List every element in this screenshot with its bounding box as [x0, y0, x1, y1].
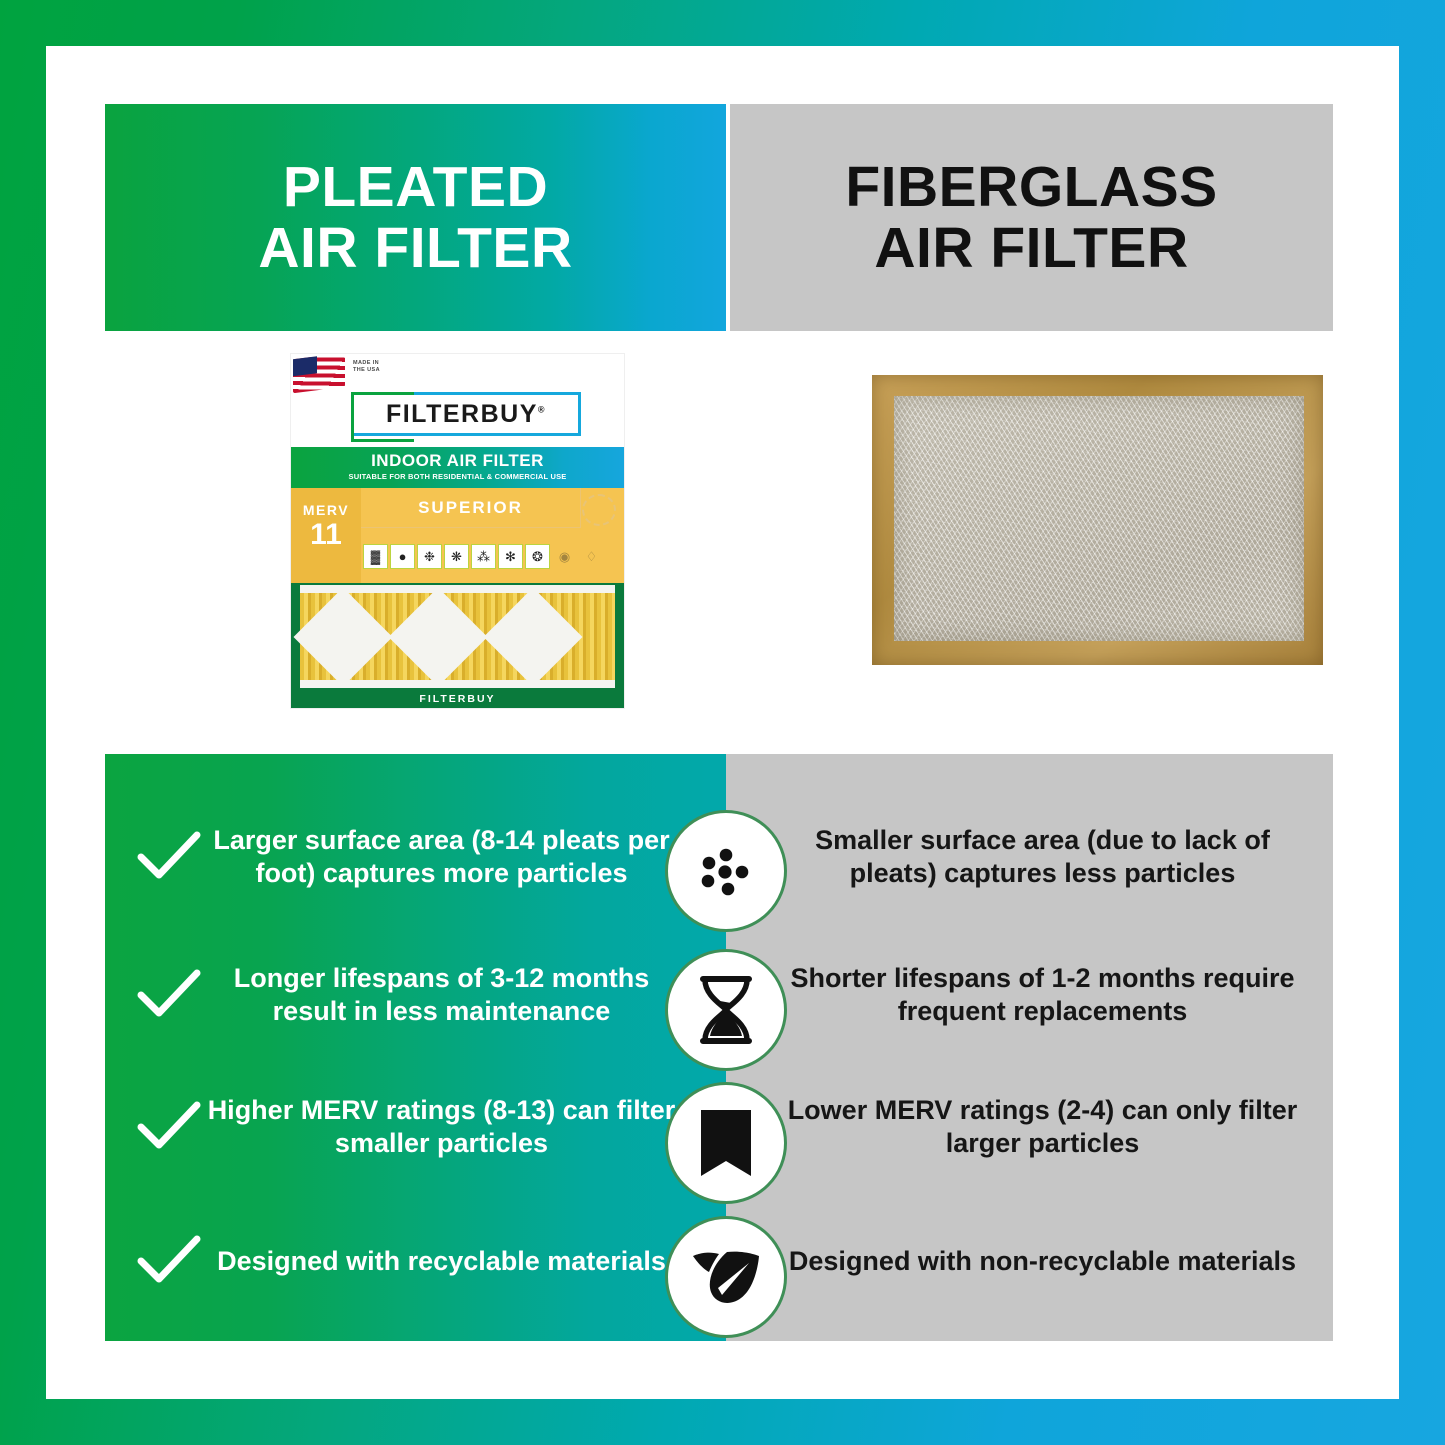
made-in-usa-text: MADE IN THE USA: [353, 360, 380, 375]
header-fiberglass-line1: FIBERGLASS: [845, 155, 1217, 219]
package-top-white-area: MADE IN THE USA FILTERBUY®: [291, 354, 624, 454]
virus-icon: ◉: [552, 544, 577, 569]
row-2-fiberglass-cell: Shorter lifespans of 1-2 months require …: [726, 936, 1333, 1054]
comparison-infographic: PLEATED AIR FILTER FIBERGLASS AIR FILTER: [105, 104, 1333, 1341]
certification-seal-icon: [582, 494, 616, 526]
brand-trademark: ®: [538, 404, 546, 414]
dust-icon: ▓: [363, 544, 388, 569]
header-fiberglass: FIBERGLASS AIR FILTER: [730, 104, 1333, 331]
pleated-media-view: FILTERBUY: [291, 583, 624, 708]
mold-spore-icon: ❉: [417, 544, 442, 569]
header-pleated-line2: AIR FILTER: [258, 216, 572, 280]
support-wire-frame: [300, 587, 615, 686]
merv-value: 11: [291, 520, 361, 550]
brand-name: FILTERBUY: [386, 400, 538, 428]
merv-rating-block: MERV 11: [291, 488, 361, 583]
row-3-fiberglass-cell: Lower MERV ratings (2-4) can only filter…: [726, 1068, 1333, 1186]
particles-icon: [665, 810, 787, 932]
package-gold-section: MERV 11 SUPERIOR ▓ ● ❉ ❋ ⁂ ✻ ❂: [291, 488, 624, 583]
check-icon: [133, 959, 205, 1031]
made-in-line1: MADE IN: [353, 360, 379, 366]
pollen-icon: ❋: [444, 544, 469, 569]
row-3-fiberglass-text: Lower MERV ratings (2-4) can only filter…: [774, 1094, 1311, 1160]
row-1-fiberglass-cell: Smaller surface area (due to lack of ple…: [726, 792, 1333, 922]
pet-dander-icon: ✻: [498, 544, 523, 569]
header-pleated-line1: PLEATED: [283, 155, 548, 219]
product-tier-label: SUPERIOR: [361, 488, 581, 528]
dust-mite-icon: ●: [390, 544, 415, 569]
row-4-fiberglass-cell: Designed with non-recyclable materials: [726, 1202, 1333, 1320]
package-band-subtitle: SUITABLE FOR BOTH RESIDENTIAL & COMMERCI…: [291, 472, 624, 481]
package-gradient-band: INDOOR AIR FILTER SUITABLE FOR BOTH RESI…: [291, 447, 624, 488]
bookmark-icon: [665, 1082, 787, 1204]
row-4-pleated-cell: Designed with recyclable materials: [105, 1202, 726, 1320]
check-icon: [133, 821, 205, 893]
row-1-fiberglass-text: Smaller surface area (due to lack of ple…: [774, 824, 1311, 890]
product-image-band: MADE IN THE USA FILTERBUY® INDOOR AIR FI…: [105, 331, 1333, 751]
header-pleated: PLEATED AIR FILTER: [105, 104, 726, 331]
row-3-pleated-text: Higher MERV ratings (8-13) can filter sm…: [205, 1094, 716, 1160]
row-2-pleated-text: Longer lifespans of 3-12 months result i…: [205, 962, 716, 1028]
white-sheet: PLEATED AIR FILTER FIBERGLASS AIR FILTER: [46, 46, 1399, 1399]
brand-logo-box: FILTERBUY®: [351, 392, 581, 436]
row-1-pleated-cell: Larger surface area (8-14 pleats per foo…: [105, 792, 726, 922]
bacteria-icon: ⁂: [471, 544, 496, 569]
header-row: PLEATED AIR FILTER FIBERGLASS AIR FILTER: [105, 104, 1333, 331]
check-icon: [133, 1091, 205, 1163]
smoke-icon: ❂: [525, 544, 550, 569]
row-1-pleated-text: Larger surface area (8-14 pleats per foo…: [205, 824, 716, 890]
brand-logo-text: FILTERBUY®: [386, 400, 546, 429]
header-pleated-title: PLEATED AIR FILTER: [258, 157, 572, 278]
leaf-icon: [665, 1216, 787, 1338]
check-icon: [133, 1225, 205, 1297]
hourglass-icon: [665, 949, 787, 1071]
merv-label: MERV: [291, 502, 361, 518]
header-fiberglass-line2: AIR FILTER: [874, 216, 1188, 280]
row-3-pleated-cell: Higher MERV ratings (8-13) can filter sm…: [105, 1068, 726, 1186]
odor-icon: ♢: [579, 544, 604, 569]
header-fiberglass-title: FIBERGLASS AIR FILTER: [845, 157, 1217, 278]
usa-flag-icon: [293, 354, 345, 393]
gradient-frame: PLEATED AIR FILTER FIBERGLASS AIR FILTER: [0, 0, 1445, 1445]
package-footer-brand: FILTERBUY: [291, 693, 624, 705]
row-2-pleated-cell: Longer lifespans of 3-12 months result i…: [105, 936, 726, 1054]
row-4-fiberglass-text: Designed with non-recyclable materials: [789, 1245, 1296, 1278]
made-in-line2: THE USA: [353, 367, 380, 373]
pleated-filter-package-image: MADE IN THE USA FILTERBUY® INDOOR AIR FI…: [291, 354, 624, 708]
row-2-fiberglass-text: Shorter lifespans of 1-2 months require …: [774, 962, 1311, 1028]
fiberglass-mesh-texture: [894, 396, 1304, 641]
package-band-title: INDOOR AIR FILTER: [291, 451, 624, 471]
row-4-pleated-text: Designed with recyclable materials: [205, 1245, 716, 1278]
fiberglass-filter-image: [872, 375, 1323, 665]
feature-icon-strip: ▓ ● ❉ ❋ ⁂ ✻ ❂ ◉ ♢: [363, 532, 621, 580]
